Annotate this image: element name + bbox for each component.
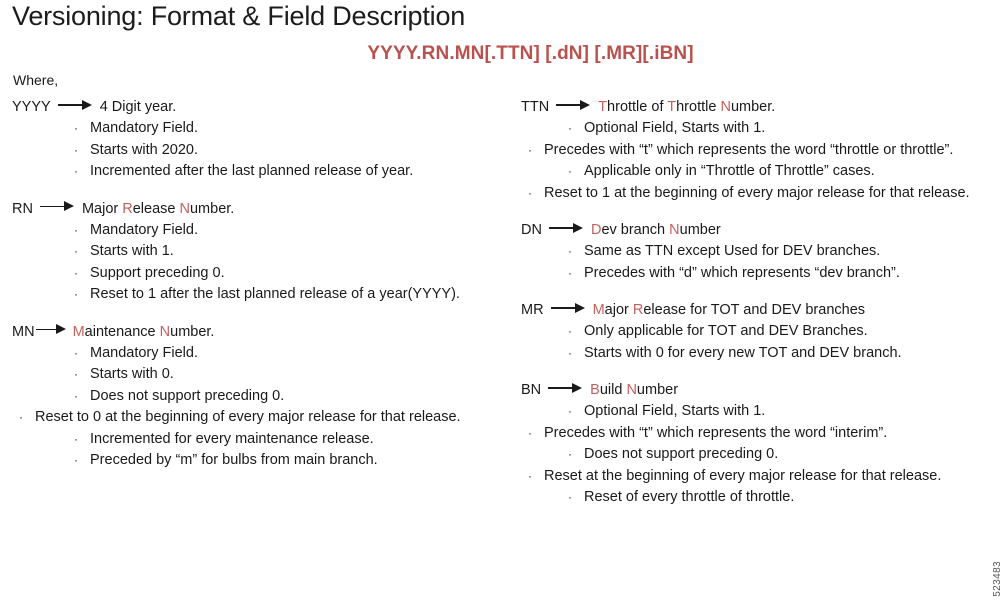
list-item-text: Mandatory Field. [90, 222, 198, 238]
right-arrow-icon [40, 201, 74, 213]
highlighted-initial: N [626, 382, 636, 398]
list-item-text: Precedes with “t” which represents the w… [544, 425, 887, 441]
bullet-dot-icon: · [568, 343, 572, 365]
highlighted-initial: N [720, 99, 730, 115]
right-arrow-icon [548, 382, 582, 394]
bullet-dot-icon: · [568, 263, 572, 285]
list-item: ·Optional Field, Starts with 1. [584, 118, 999, 140]
list-item-text: Does not support preceding 0. [584, 446, 778, 462]
field-heading: DNDev branch Number [521, 221, 999, 240]
bullet-dot-icon: · [74, 140, 78, 162]
where-label: Where, [13, 72, 58, 88]
list-item: ·Preceded by “m” for bulbs from main bra… [90, 450, 512, 472]
field-title-text: ajor [605, 302, 633, 318]
field-heading: MNMaintenance Number. [12, 323, 512, 342]
highlighted-initial: T [667, 99, 676, 115]
list-item-text: Mandatory Field. [90, 120, 198, 136]
highlighted-initial: R [122, 201, 132, 217]
field-title-text: umber [637, 382, 678, 398]
list-item-text: Reset of every throttle of throttle. [584, 489, 794, 505]
bullet-dot-icon: · [74, 429, 78, 451]
field-block-mr: MRMajor Release for TOT and DEV branches… [521, 301, 999, 364]
list-item-text: Same as TTN except Used for DEV branches… [584, 243, 880, 259]
list-item-text: Starts with 1. [90, 243, 174, 259]
highlighted-initial: N [160, 324, 170, 340]
field-title-text: aintenance [85, 324, 160, 340]
list-item: ·Reset to 0 at the beginning of every ma… [35, 407, 512, 429]
field-title-text: elease [133, 201, 180, 217]
field-heading: RNMajor Release Number. [12, 200, 512, 219]
list-item: ·Precedes with “t” which represents the … [544, 140, 999, 162]
list-item-text: Does not support preceding 0. [90, 388, 284, 404]
list-item: ·Precedes with “t” which represents the … [544, 423, 999, 445]
field-heading: TTNThrottle of Throttle Number. [521, 98, 999, 117]
right-arrow-icon [58, 99, 92, 111]
right-column: TTNThrottle of Throttle Number.·Optional… [521, 98, 999, 526]
field-heading: YYYY4 Digit year. [12, 98, 512, 117]
list-item-text: Starts with 0. [90, 366, 174, 382]
list-item: ·Starts with 2020. [90, 140, 512, 162]
highlighted-initial: M [73, 324, 85, 340]
field-title: Major Release for TOT and DEV branches [593, 301, 865, 320]
version-format-string: YYYY.RN.MN[.TTN] [.dN] [.MR][.iBN] [0, 43, 1005, 65]
list-item-text: Starts with 2020. [90, 142, 198, 158]
field-title-text: umber. [190, 201, 234, 217]
list-item: ·Starts with 0. [90, 364, 512, 386]
field-abbreviation: MN [12, 323, 35, 342]
bullet-dot-icon: · [568, 321, 572, 343]
bullet-dot-icon: · [74, 118, 78, 140]
bullet-dot-icon: · [74, 364, 78, 386]
list-item: ·Incremented after the last planned rele… [90, 161, 512, 183]
list-item-text: Reset to 1 after the last planned releas… [90, 286, 460, 302]
field-block-bn: BNBuild Number·Optional Field, Starts wi… [521, 381, 999, 509]
list-item: ·Incremented for every maintenance relea… [90, 429, 512, 451]
field-bullet-list: ·Mandatory Field.·Starts with 0.·Does no… [12, 343, 512, 472]
field-abbreviation: TTN [521, 98, 549, 117]
field-heading: BNBuild Number [521, 381, 999, 400]
list-item-text: Applicable only in “Throttle of Throttle… [584, 163, 875, 179]
field-block-ttn: TTNThrottle of Throttle Number.·Optional… [521, 98, 999, 204]
field-block-mn: MNMaintenance Number.·Mandatory Field.·S… [12, 323, 512, 472]
bullet-dot-icon: · [568, 444, 572, 466]
field-bullet-list: ·Optional Field, Starts with 1.·Precedes… [521, 401, 999, 509]
field-title: Dev branch Number [591, 221, 721, 240]
list-item-text: Optional Field, Starts with 1. [584, 120, 765, 136]
bullet-dot-icon: · [568, 241, 572, 263]
list-item: ·Starts with 0 for every new TOT and DEV… [584, 343, 999, 365]
field-heading: MRMajor Release for TOT and DEV branches [521, 301, 999, 320]
bullet-dot-icon: · [74, 161, 78, 183]
field-title-text: umber. [731, 99, 775, 115]
list-item-text: Reset to 1 at the beginning of every maj… [544, 185, 970, 201]
field-bullet-list: ·Mandatory Field.·Starts with 1.·Support… [12, 220, 512, 306]
field-abbreviation: MR [521, 301, 544, 320]
bullet-dot-icon: · [74, 263, 78, 285]
field-title-text: hrottle of [607, 99, 667, 115]
list-item-text: Precedes with “d” which represents “dev … [584, 265, 900, 281]
field-title-text: umber [680, 222, 721, 238]
list-item: ·Support preceding 0. [90, 263, 512, 285]
field-abbreviation: BN [521, 381, 541, 400]
highlighted-initial: B [590, 382, 600, 398]
list-item: ·Reset to 1 after the last planned relea… [90, 284, 512, 306]
list-item: ·Starts with 1. [90, 241, 512, 263]
bullet-dot-icon: · [74, 450, 78, 472]
bullet-dot-icon: · [568, 487, 572, 509]
field-abbreviation: DN [521, 221, 542, 240]
bullet-dot-icon: · [568, 118, 572, 140]
list-item-text: Support preceding 0. [90, 265, 225, 281]
list-item: ·Mandatory Field. [90, 118, 512, 140]
list-item: ·Reset at the beginning of every major r… [544, 466, 999, 488]
highlighted-initial: M [593, 302, 605, 318]
field-title-text: ev branch [601, 222, 669, 238]
list-item: ·Reset of every throttle of throttle. [584, 487, 999, 509]
versioning-format-field-description-page: { "title": "Versioning: Format & Field D… [0, 0, 1005, 605]
bullet-dot-icon: · [74, 284, 78, 306]
list-item-text: Reset to 0 at the beginning of every maj… [35, 409, 461, 425]
bullet-dot-icon: · [74, 386, 78, 408]
field-title: Throttle of Throttle Number. [598, 98, 775, 117]
bullet-dot-icon: · [74, 220, 78, 242]
bullet-dot-icon: · [568, 401, 572, 423]
list-item: ·Mandatory Field. [90, 343, 512, 365]
list-item-text: Reset at the beginning of every major re… [544, 468, 941, 484]
highlighted-initial: T [598, 99, 607, 115]
page-title: Versioning: Format & Field Description [12, 1, 465, 32]
list-item-text: Optional Field, Starts with 1. [584, 403, 765, 419]
field-title-text: umber. [170, 324, 214, 340]
list-item-text: Only applicable for TOT and DEV Branches… [584, 323, 868, 339]
list-item-text: Preceded by “m” for bulbs from main bran… [90, 452, 378, 468]
field-bullet-list: ·Mandatory Field.·Starts with 2020.·Incr… [12, 118, 512, 183]
field-title: 4 Digit year. [100, 98, 177, 117]
list-item: ·Same as TTN except Used for DEV branche… [584, 241, 999, 263]
list-item-text: Incremented for every maintenance releas… [90, 431, 374, 447]
figure-number: 523483 [992, 561, 1003, 597]
list-item: ·Applicable only in “Throttle of Throttl… [584, 161, 999, 183]
bullet-dot-icon: · [74, 343, 78, 365]
field-title-text: elease for TOT and DEV branches [643, 302, 865, 318]
bullet-dot-icon: · [568, 161, 572, 183]
right-arrow-icon [36, 324, 66, 336]
right-arrow-icon [549, 222, 583, 234]
field-title: Maintenance Number. [73, 323, 215, 342]
list-item: ·Does not support preceding 0. [90, 386, 512, 408]
list-item-text: Incremented after the last planned relea… [90, 163, 413, 179]
highlighted-initial: N [180, 201, 190, 217]
right-arrow-icon [551, 302, 585, 314]
right-arrow-icon [556, 99, 590, 111]
list-item: ·Mandatory Field. [90, 220, 512, 242]
list-item: ·Optional Field, Starts with 1. [584, 401, 999, 423]
highlighted-initial: R [633, 302, 643, 318]
field-title-text: Major [82, 201, 122, 217]
list-item-text: Starts with 0 for every new TOT and DEV … [584, 345, 902, 361]
list-item: ·Only applicable for TOT and DEV Branche… [584, 321, 999, 343]
field-bullet-list: ·Optional Field, Starts with 1.·Precedes… [521, 118, 999, 204]
field-abbreviation: RN [12, 200, 33, 219]
field-title: Build Number [590, 381, 678, 400]
field-title: Major Release Number. [82, 200, 234, 219]
list-item-text: Mandatory Field. [90, 345, 198, 361]
list-item: ·Reset to 1 at the beginning of every ma… [544, 183, 999, 205]
list-item-text: Precedes with “t” which represents the w… [544, 142, 953, 158]
field-block-rn: RNMajor Release Number.·Mandatory Field.… [12, 200, 512, 306]
left-column: YYYY4 Digit year.·Mandatory Field.·Start… [12, 98, 512, 489]
field-title-text: hrottle [676, 99, 720, 115]
field-bullet-list: ·Same as TTN except Used for DEV branche… [521, 241, 999, 284]
field-block-dn: DNDev branch Number·Same as TTN except U… [521, 221, 999, 284]
field-block-yyyy: YYYY4 Digit year.·Mandatory Field.·Start… [12, 98, 512, 183]
highlighted-initial: D [591, 222, 601, 238]
field-abbreviation: YYYY [12, 98, 51, 117]
bullet-dot-icon: · [74, 241, 78, 263]
field-title-text: uild [600, 382, 627, 398]
list-item: ·Precedes with “d” which represents “dev… [584, 263, 999, 285]
highlighted-initial: N [669, 222, 679, 238]
field-bullet-list: ·Only applicable for TOT and DEV Branche… [521, 321, 999, 364]
list-item: ·Does not support preceding 0. [584, 444, 999, 466]
